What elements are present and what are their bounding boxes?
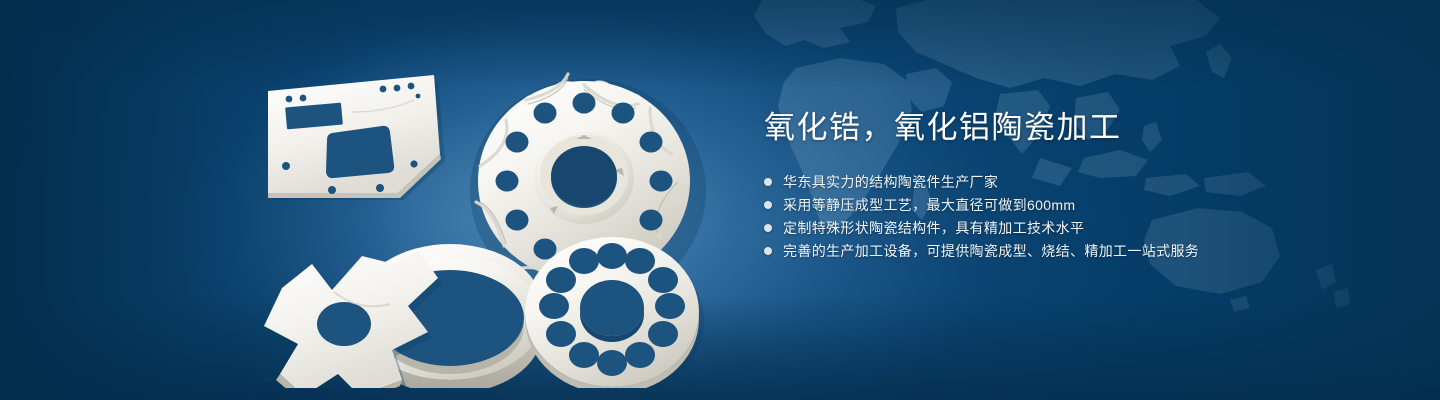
bullet-dot-icon	[764, 247, 772, 255]
feature-text: 完善的生产加工设备，可提供陶瓷成型、烧结、精加工一站式服务	[783, 240, 1199, 262]
bullet-dot-icon	[764, 224, 772, 232]
ceramic-cross-part-and-rings	[246, 244, 558, 388]
bullet-dot-icon	[764, 178, 772, 186]
banner-copy: 氧化锆，氧化铝陶瓷加工 华东具实力的结构陶瓷件生产厂家 采用等静压成型工艺，最大…	[764, 108, 1364, 263]
bullet-dot-icon	[764, 201, 772, 209]
product-photo-cluster	[232, 38, 718, 388]
feature-item: 华东具实力的结构陶瓷件生产厂家	[764, 171, 1364, 193]
feature-text: 采用等静压成型工艺，最大直径可做到600mm	[783, 194, 1075, 216]
banner-headline: 氧化锆，氧化铝陶瓷加工	[764, 108, 1364, 148]
ceramic-machined-plate	[268, 75, 445, 200]
feature-list: 华东具实力的结构陶瓷件生产厂家 采用等静压成型工艺，最大直径可做到600mm 定…	[764, 171, 1364, 262]
feature-text: 定制特殊形状陶瓷结构件，具有精加工技术水平	[783, 217, 1084, 239]
feature-item: 定制特殊形状陶瓷结构件，具有精加工技术水平	[764, 217, 1364, 239]
feature-item: 完善的生产加工设备，可提供陶瓷成型、烧结、精加工一站式服务	[764, 240, 1364, 262]
hero-banner: 氧化锆，氧化铝陶瓷加工 华东具实力的结构陶瓷件生产厂家 采用等静压成型工艺，最大…	[0, 0, 1440, 400]
feature-text: 华东具实力的结构陶瓷件生产厂家	[783, 171, 998, 193]
feature-item: 采用等静压成型工艺，最大直径可做到600mm	[764, 194, 1364, 216]
